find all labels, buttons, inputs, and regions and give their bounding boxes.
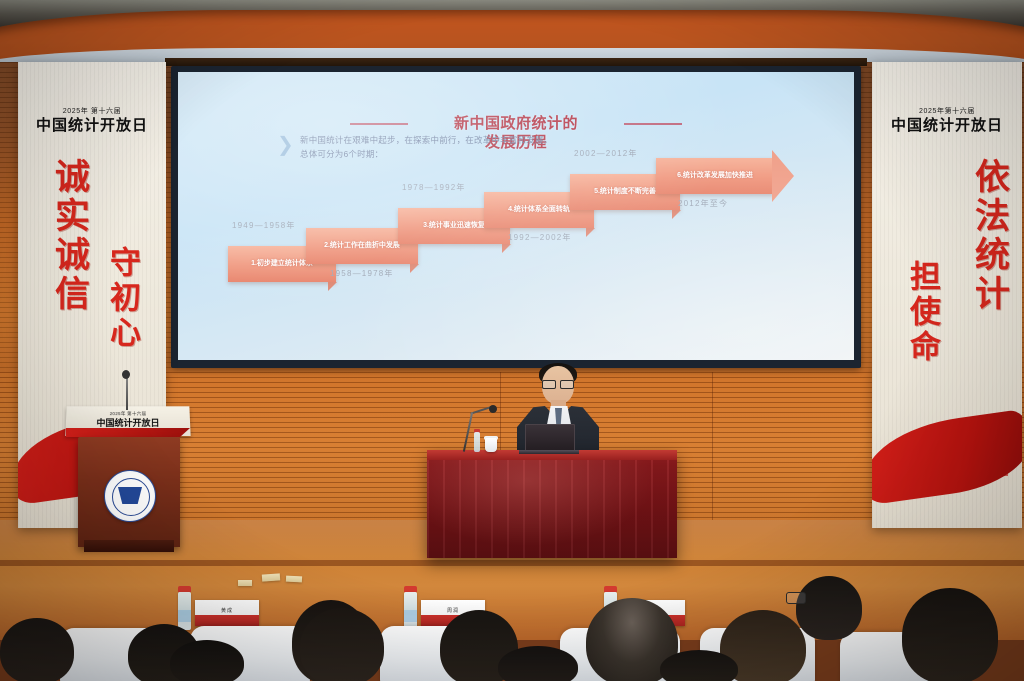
- banner-right-calligraphy-sub: 担使命: [900, 260, 945, 365]
- podium-base: [84, 540, 174, 552]
- floor-paper: [238, 580, 252, 586]
- audience-head: [498, 646, 578, 681]
- glasses-lens-left: [542, 380, 556, 389]
- audience-head: [300, 608, 384, 681]
- name-card: 黄成: [195, 600, 259, 626]
- name-card-label: 黄成: [195, 607, 259, 614]
- timeline-period-6: 2012年至今: [678, 198, 728, 209]
- banner-left-calligraphy-sub: 守初心: [100, 246, 145, 351]
- banner-right-header: 2025年第十六届 中国统计开放日: [872, 106, 1022, 135]
- floor-paper: [262, 573, 280, 581]
- timeline-notch: [410, 264, 419, 273]
- timeline-notch: [328, 282, 337, 291]
- banner-right-calligraphy-main: 依法统计: [964, 158, 1015, 314]
- timeline-period-2: 1958—1978年: [330, 268, 394, 279]
- banner-left-header: 2025年 第十六届 中国统计开放日: [18, 106, 166, 135]
- table-cloth-sheen: [427, 455, 677, 558]
- glasses-icon: [542, 380, 574, 387]
- bottle-label: [404, 610, 417, 622]
- timeline-arrow-head: [772, 150, 794, 202]
- photo-scene: 新中国政府统计的 发展历程 ❯ 新中国统计在艰难中起步，在探索中前行，在改革中丰…: [0, 0, 1024, 681]
- podium-microphone-stand: [126, 376, 128, 410]
- stage-edge: [0, 560, 1024, 566]
- water-bottle-icon: [474, 432, 480, 452]
- bottle-label: [178, 610, 191, 622]
- banner-right-header-big: 中国统计开放日: [872, 114, 1022, 135]
- timeline-diagram: 1949—1958年 1.初步建立统计体系 2.统计工作在曲折中发展 1958—…: [178, 72, 854, 360]
- audience-head: [0, 618, 74, 681]
- audience-head: [902, 588, 998, 681]
- tea-cup-icon: [485, 438, 497, 452]
- audience-head: [170, 640, 244, 681]
- timeline-period-1: 1949—1958年: [232, 220, 296, 231]
- timeline-period-5: 2002—2012年: [574, 148, 638, 159]
- timeline-period-3: 1978—1992年: [402, 182, 466, 193]
- red-wave-graphic: [872, 409, 1022, 506]
- podium-microphone-icon: [122, 370, 130, 379]
- audience-head: [660, 650, 738, 681]
- microphone-icon: [489, 405, 497, 413]
- floor-paper: [286, 576, 302, 583]
- timeline-notch: [502, 244, 511, 253]
- banner-left-header-big: 中国统计开放日: [18, 114, 166, 135]
- presentation-slide: 新中国政府统计的 发展历程 ❯ 新中国统计在艰难中起步，在探索中前行，在改革中丰…: [178, 72, 854, 360]
- timeline-period-4: 1992—2002年: [508, 232, 572, 243]
- laptop-base: [519, 450, 579, 454]
- school-crest-emblem: [104, 470, 156, 522]
- audience-head: [796, 576, 862, 640]
- timeline-notch: [672, 210, 681, 219]
- projection-screen: 新中国政府统计的 发展历程 ❯ 新中国统计在艰难中起步，在探索中前行，在改革中丰…: [178, 72, 854, 360]
- banner-right-graphic: [872, 432, 1022, 528]
- podium-sign-big: 中国统计开放日: [66, 416, 191, 429]
- podium-sign-text: 2025年 第十六届 中国统计开放日: [66, 411, 191, 429]
- timeline-notch: [586, 228, 595, 237]
- banner-right: 2025年第十六届 中国统计开放日 依法统计 担使命: [872, 62, 1022, 528]
- timeline-segment-6: 6.统计改革发展加快推进: [656, 158, 774, 194]
- glasses-lens-right: [560, 380, 574, 389]
- podium-sign-accent: [66, 428, 190, 437]
- banner-left-calligraphy-main: 诚实诚信: [44, 158, 95, 314]
- glasses-icon: [786, 592, 806, 604]
